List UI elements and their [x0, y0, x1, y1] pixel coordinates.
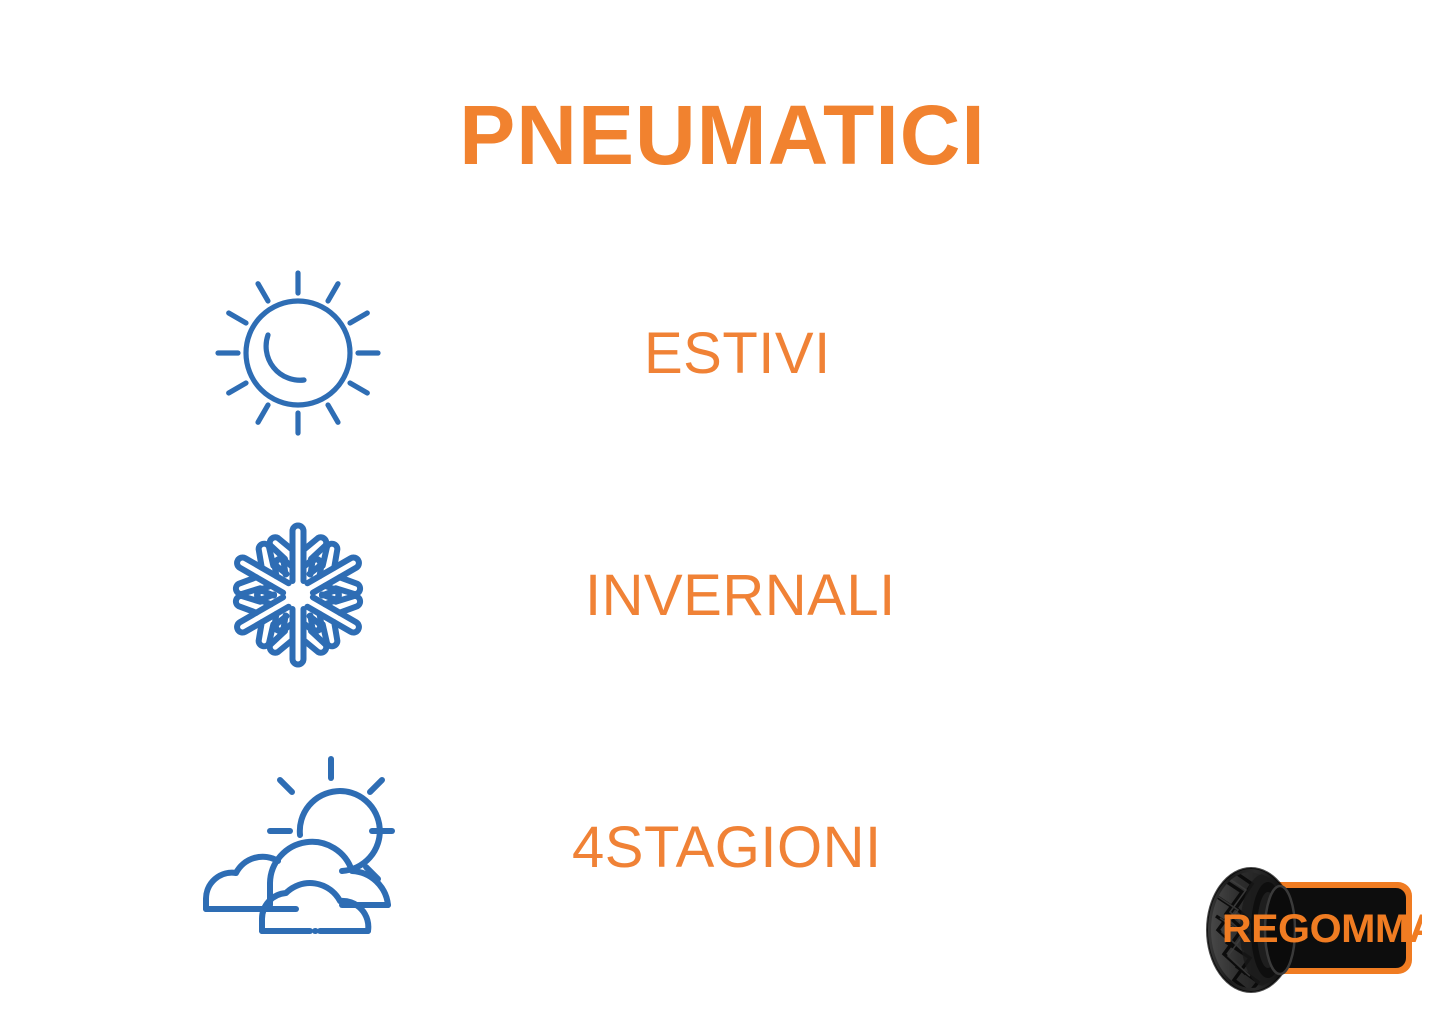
list-item: ESTIVI — [0, 258, 1445, 448]
list-item-label: 4STAGIONI — [572, 752, 882, 942]
sun-icon — [185, 258, 410, 448]
list-item-label: INVERNALI — [585, 500, 896, 690]
list-item-label: ESTIVI — [644, 258, 831, 448]
sun-behind-clouds-icon — [185, 752, 410, 942]
regomma-logo: REGOMMA — [1196, 858, 1422, 998]
slide-root: PNEUMATICI — [0, 0, 1445, 1022]
page-title: PNEUMATICI — [0, 93, 1445, 177]
logo-wordmark: REGOMMA — [1222, 906, 1422, 951]
list-item: INVERNALI — [0, 500, 1445, 690]
snowflake-icon — [185, 500, 410, 690]
